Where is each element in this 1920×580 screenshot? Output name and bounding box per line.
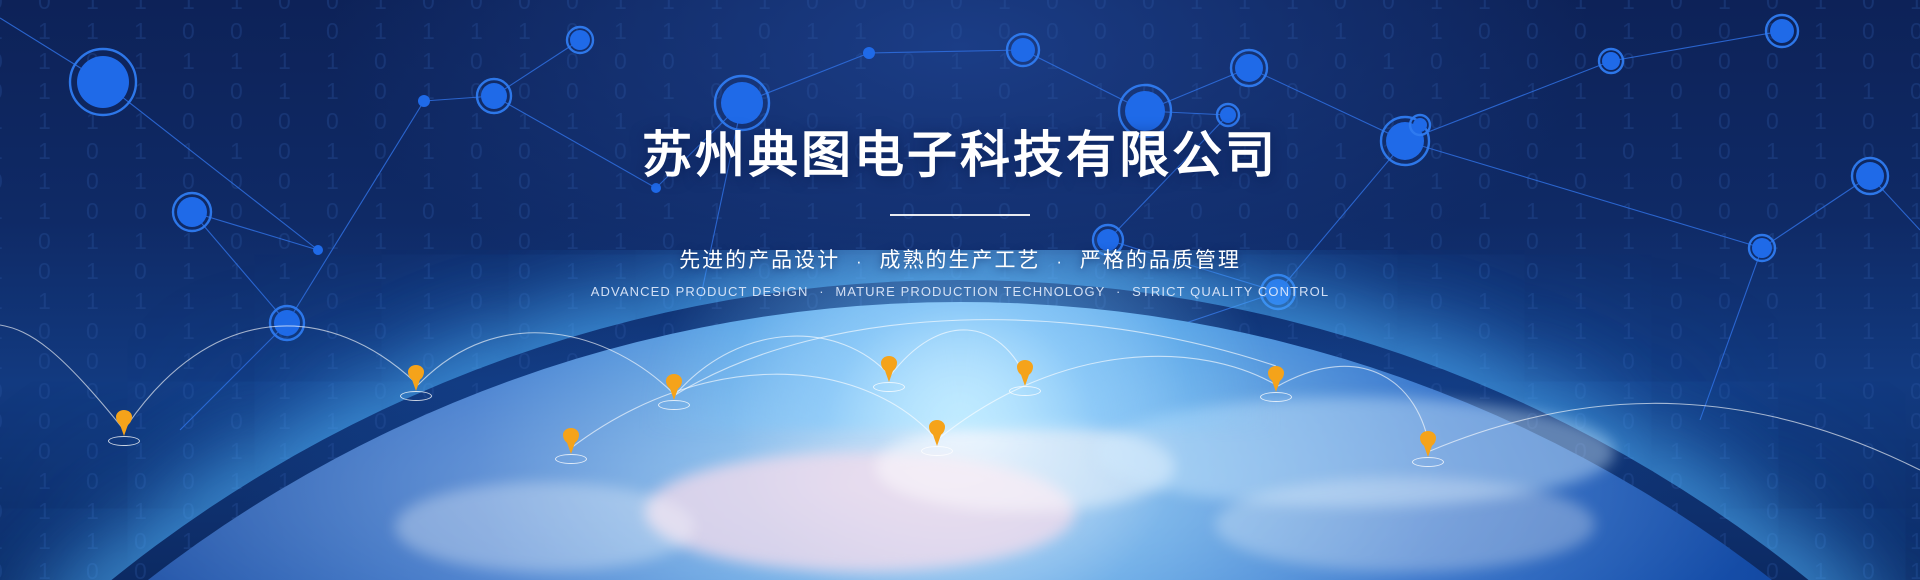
node-11 [1235,54,1263,82]
node-5 [481,83,507,109]
map-marker-8[interactable] [1268,366,1284,382]
node-1-ring [70,49,136,115]
subtitle-en-part-1: ADVANCED PRODUCT DESIGN [591,284,809,299]
map-marker-2[interactable] [408,365,424,381]
subtitle-cn-part-3: 严格的品质管理 [1080,249,1241,272]
page-title: 苏州典图电子科技有限公司 [0,126,1920,184]
map-marker-1[interactable] [116,410,132,426]
node-4 [418,95,430,107]
title-divider [890,214,1030,216]
pin-base-ellipse [921,446,953,456]
node-19 [1770,19,1794,43]
subtitle-cn-separator-1: · [848,252,872,271]
subtitle-en-part-3: STRICT QUALITY CONTROL [1132,284,1329,299]
node-10 [1125,91,1165,131]
map-marker-6[interactable] [929,420,945,436]
location-pin-icon [1420,431,1436,447]
node-9 [1011,38,1035,62]
node-8 [863,47,875,59]
location-pin-icon [666,374,682,390]
pin-base-ellipse [555,454,587,464]
map-marker-5[interactable] [881,356,897,372]
pin-base-ellipse [1260,392,1292,402]
map-marker-3[interactable] [563,428,579,444]
node-1 [77,56,129,108]
landmass-5 [1215,477,1595,572]
subtitle-en-part-2: MATURE PRODUCTION TECHNOLOGY [835,284,1105,299]
pin-base-ellipse [658,400,690,410]
subtitle-english: ADVANCED PRODUCT DESIGN · MATURE PRODUCT… [0,284,1920,299]
map-marker-4[interactable] [666,374,682,390]
node-12 [1220,107,1236,123]
pin-base-ellipse [1009,386,1041,396]
subtitle-en-separator-2: · [1110,284,1127,299]
hero-banner: 0 1 0 0 1 1 0 1 1 1 1 1 1 0 0 1 1 0 1 0 … [0,0,1920,580]
subtitle-cn-part-1: 先进的产品设计 [679,249,840,272]
location-pin-icon [1017,360,1033,376]
location-pin-icon [1268,366,1284,382]
subtitle-chinese: 先进的产品设计 · 成熟的生产工艺 · 严格的品质管理 [0,244,1920,274]
node-11-ring [1231,50,1267,86]
headline-block: 苏州典图电子科技有限公司 先进的产品设计 · 成熟的生产工艺 · 严格的品质管理… [0,126,1920,299]
node-5-ring [477,79,511,113]
node-18 [1602,52,1620,70]
subtitle-en-separator-1: · [813,284,830,299]
node-6-ring [567,27,593,53]
earth-globe [0,250,1920,580]
landmass-4 [395,482,695,572]
pin-base-ellipse [1412,457,1444,467]
pin-base-ellipse [108,436,140,446]
location-pin-icon [929,420,945,436]
subtitle-cn-separator-2: · [1048,252,1072,271]
node-18-ring [1599,49,1623,73]
location-pin-icon [881,356,897,372]
pin-base-ellipse [400,391,432,401]
location-pin-icon [408,365,424,381]
location-pin-icon [563,428,579,444]
location-pin-icon [116,410,132,426]
node-7 [721,82,763,124]
node-7-ring [715,76,769,130]
node-6 [570,30,590,50]
node-12-ring [1217,104,1239,126]
map-marker-9[interactable] [1420,431,1436,447]
pin-base-ellipse [873,382,905,392]
node-9-ring [1007,34,1039,66]
map-marker-7[interactable] [1017,360,1033,376]
node-19-ring [1766,15,1798,47]
subtitle-cn-part-2: 成熟的生产工艺 [880,249,1041,272]
